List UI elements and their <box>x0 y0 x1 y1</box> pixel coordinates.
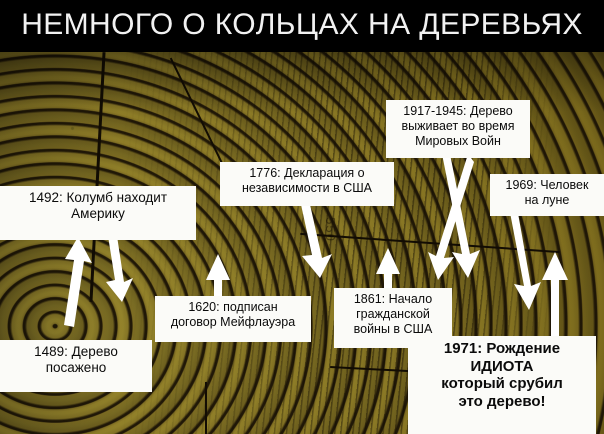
callout-civilwar-line-2: гражданской <box>341 307 445 322</box>
callout-worldwars-line-2: выживает во время <box>393 119 523 134</box>
callout-moon-line-2: на луне <box>497 193 597 208</box>
crack-bottom-left <box>205 382 207 434</box>
arrow-planted <box>48 237 94 329</box>
callout-idiot-line-4: это дерево! <box>415 393 589 411</box>
callout-mayflower: 1620: подписан договор Мейфлауэра <box>155 296 311 342</box>
callout-mayflower-line-2: договор Мейфлауэра <box>162 315 304 330</box>
callout-declaration-line-1: 1776: Декларация о <box>227 166 387 181</box>
page-title: НЕМНОГО О КОЛЬЦАХ НА ДЕРЕВЬЯХ <box>0 3 604 47</box>
callout-declaration-line-2: независимости в США <box>227 181 387 196</box>
meme-image: НЕМНОГО О КОЛЬЦАХ НА ДЕРЕВЬЯХ 550 <box>0 0 604 434</box>
callout-idiot-line-2: ИДИОТА <box>415 358 589 376</box>
callout-planted-line-1: 1489: Дерево <box>7 344 145 360</box>
callout-mayflower-line-1: 1620: подписан <box>162 300 304 315</box>
callout-civilwar-line-3: войны в США <box>341 322 445 337</box>
callout-worldwars-line-1: 1917-1945: Дерево <box>393 104 523 119</box>
callout-idiot-line-1: 1971: Рождение <box>415 340 589 358</box>
arrow-columbus <box>100 234 150 304</box>
callout-declaration: 1776: Декларация о независимости в США <box>220 162 394 206</box>
callout-moon-line-1: 1969: Человек <box>497 178 597 193</box>
callout-columbus-line-2: Америку <box>7 206 189 222</box>
title-bar: НЕМНОГО О КОЛЬЦАХ НА ДЕРЕВЬЯХ <box>0 0 604 52</box>
callout-columbus: 1492: Колумб находит Америку <box>0 186 196 240</box>
callout-worldwars: 1917-1945: Дерево выживает во время Миро… <box>386 100 530 158</box>
callout-idiot-line-3: который срубил <box>415 375 589 393</box>
callout-columbus-line-1: 1492: Колумб находит <box>7 190 189 206</box>
callout-idiot: 1971: Рождение ИДИОТА который срубил это… <box>408 336 596 434</box>
callout-planted-line-2: посажено <box>7 360 145 376</box>
callout-planted: 1489: Дерево посажено <box>0 340 152 392</box>
callout-moon: 1969: Человек на луне <box>490 174 604 216</box>
callout-worldwars-line-3: Мировых Войн <box>393 134 523 149</box>
arrow-worldwars-right <box>440 154 482 280</box>
arrow-declaration <box>296 200 338 280</box>
callout-civilwar-line-1: 1861: Начало <box>341 292 445 307</box>
